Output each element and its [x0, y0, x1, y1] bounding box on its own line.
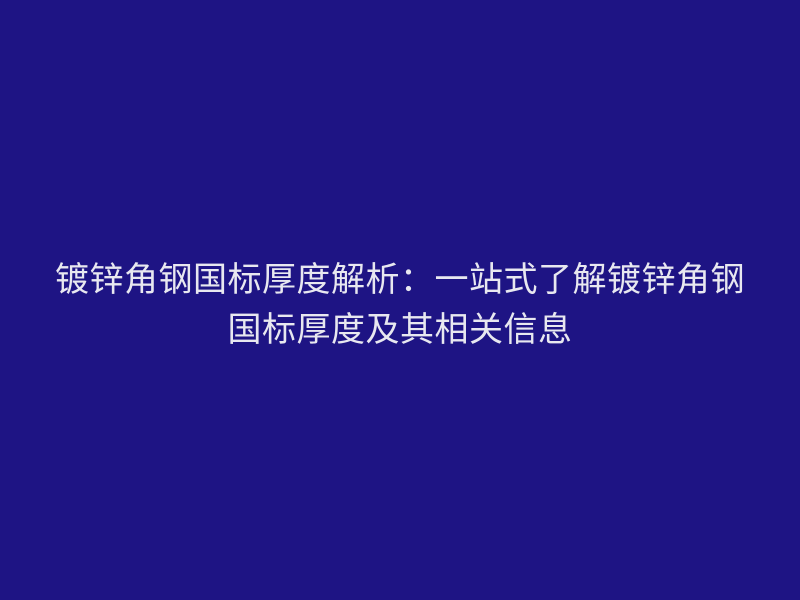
page-title: 镀锌角钢国标厚度解析：一站式了解镀锌角钢国标厚度及其相关信息: [50, 255, 750, 355]
banner-canvas: 镀锌角钢国标厚度解析：一站式了解镀锌角钢国标厚度及其相关信息: [0, 0, 800, 600]
title-block: 镀锌角钢国标厚度解析：一站式了解镀锌角钢国标厚度及其相关信息: [50, 255, 750, 355]
